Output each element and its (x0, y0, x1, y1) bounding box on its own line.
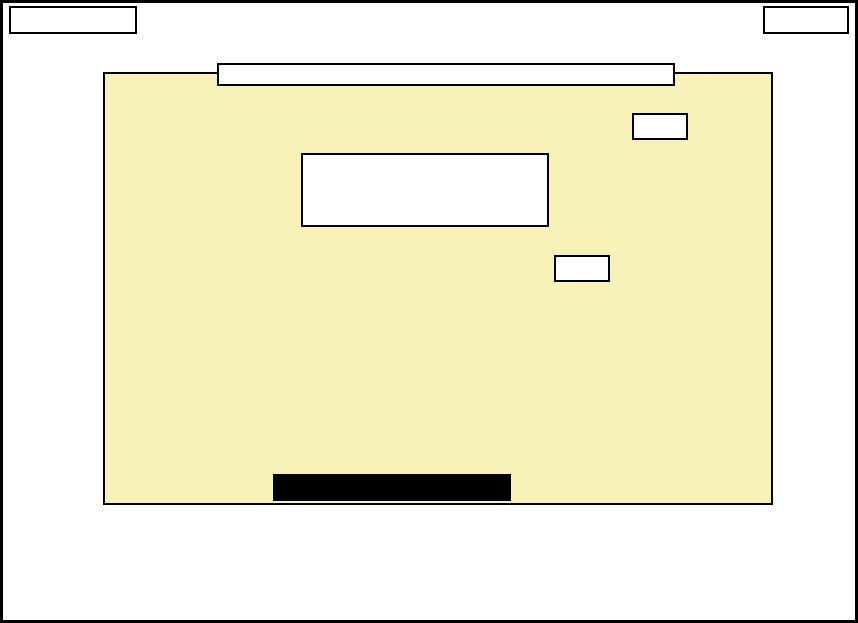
bev-levels-box (301, 153, 549, 227)
date-badge (9, 6, 137, 34)
credit-badge (273, 474, 511, 501)
marker-label-2 (632, 113, 688, 140)
x-axis-labels (103, 509, 773, 594)
y-axis-labels-left (21, 72, 97, 505)
org-badge (763, 6, 849, 34)
y-axis-labels-right (781, 72, 858, 505)
chart-page (0, 0, 858, 623)
zero-note-box (217, 63, 675, 86)
marker-label-1 (554, 255, 610, 282)
